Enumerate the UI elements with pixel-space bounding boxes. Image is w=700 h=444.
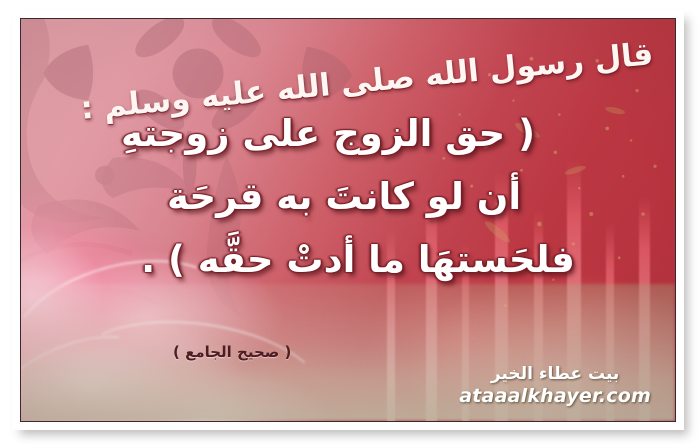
hadith-line-2: أن لو كانتَ به قرحَة [51, 178, 645, 215]
site-branding[interactable]: بيت عطاء الخير ataaalkhayer.com [459, 365, 651, 407]
hadith-quote-block: ( حق الزوج على زوجتهِ أن لو كانتَ به قرح… [51, 115, 645, 278]
hadith-line-1: ( حق الزوج على زوجتهِ [51, 115, 645, 152]
card-content: قال رسول الله صلى الله عليه وسلم : ( حق … [21, 19, 675, 421]
hadith-card: قال رسول الله صلى الله عليه وسلم : ( حق … [0, 0, 700, 444]
hadith-line-3: فلحَستهَا ما أدتْ حقَّه ) . [51, 241, 645, 278]
brand-website-url[interactable]: ataaalkhayer.com [459, 385, 651, 407]
hadith-attribution-calligraphy: قال رسول الله صلى الله عليه وسلم : [353, 35, 655, 102]
brand-arabic-name: بيت عطاء الخير [459, 365, 651, 384]
card-inner-border: قال رسول الله صلى الله عليه وسلم : ( حق … [20, 18, 676, 422]
hadith-source-reference: ( صحيح الجامع ) [173, 343, 291, 361]
